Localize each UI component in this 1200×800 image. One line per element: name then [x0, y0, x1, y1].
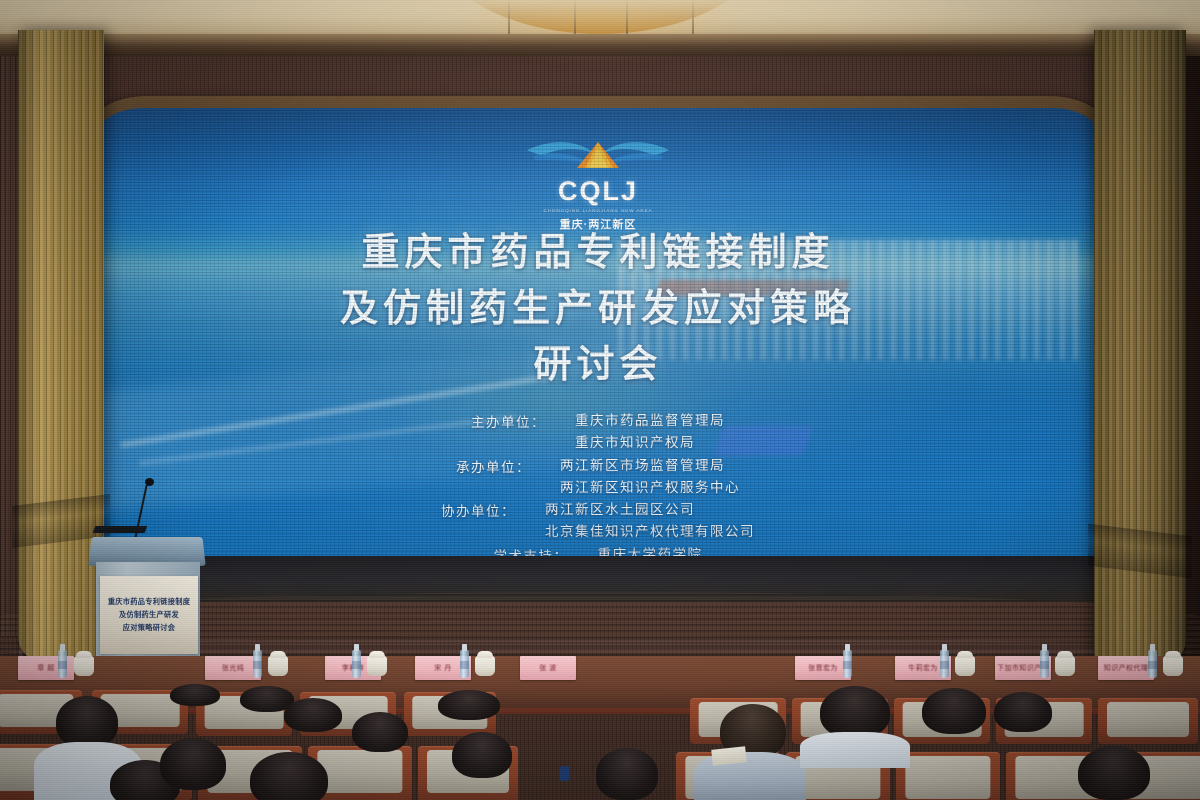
speaker-podium: 重庆市药品专利链接制度 及仿制药生产研发 应对策略研讨会 — [88, 536, 206, 670]
credit-row-host: 承办单位： 两江新区市场监督管理局 两江新区知识产权服务中心 — [456, 456, 740, 500]
water-bottle — [843, 650, 852, 678]
logo-wordmark: CQLJ — [513, 178, 683, 205]
credit-value: 重庆市药品监督管理局 — [575, 411, 725, 433]
teacup — [74, 656, 94, 676]
credit-value: 北京集佳知识产权代理有限公司 — [545, 522, 755, 544]
podium-sign-line-3: 应对策略研讨会 — [123, 623, 175, 633]
presentation-slide: CQLJ CHONGQING LIANGJIANG NEW AREA 重庆·两江… — [98, 108, 1098, 570]
attendee-head — [56, 696, 118, 748]
teacup — [955, 656, 975, 676]
slide-credits: 主办单位： 重庆市药品监督管理局 重庆市知识产权局 承办单位： 两江新区市场监督… — [98, 411, 1098, 568]
ceiling-beam — [0, 34, 1200, 56]
audience-seating — [0, 690, 1200, 800]
attendee-phone — [560, 766, 569, 781]
water-bottle — [1148, 650, 1157, 678]
placard-name: 张光纯 — [222, 663, 244, 673]
credit-label: 主办单位： — [471, 411, 575, 431]
credit-row-organizer: 主办单位： 重庆市药品监督管理局 重庆市知识产权局 — [471, 411, 725, 455]
attendee-body — [694, 752, 806, 800]
placard-name: 宋 丹 — [434, 663, 451, 673]
attendee-head — [596, 748, 658, 800]
attendee-head — [820, 686, 890, 738]
name-placard: 知识产权代理 — [1098, 656, 1154, 680]
credit-row-coorganizer: 协办单位： 两江新区水土园区公司 北京集佳知识产权代理有限公司 — [441, 500, 755, 544]
attendee-head — [170, 684, 220, 706]
placard-name: 章 超 — [37, 663, 54, 673]
water-bottle — [352, 650, 361, 678]
attendee-body — [800, 732, 910, 768]
bird-wing-icon — [523, 134, 673, 180]
audience-seat — [896, 752, 1000, 800]
teacup — [367, 656, 387, 676]
attendee-head — [438, 690, 500, 720]
credit-label: 承办单位： — [456, 456, 560, 476]
cqlj-logo: CQLJ CHONGQING LIANGJIANG NEW AREA 重庆·两江… — [513, 134, 683, 232]
water-bottle — [940, 650, 949, 678]
led-video-wall: CQLJ CHONGQING LIANGJIANG NEW AREA 重庆·两江… — [98, 108, 1098, 570]
placard-name: 牛莉宏为 — [908, 663, 938, 673]
teacup — [1055, 656, 1075, 676]
credit-value: 两江新区知识产权服务中心 — [560, 478, 740, 500]
water-bottle — [1040, 650, 1049, 678]
attendee-head — [994, 692, 1052, 732]
slide-title-line-1: 重庆市药品专利链接制度 — [98, 224, 1098, 280]
attendee-head — [284, 698, 342, 732]
attendee-head — [250, 752, 328, 800]
credit-value: 两江新区市场监督管理局 — [560, 456, 740, 478]
attendee-head — [1078, 746, 1150, 800]
attendee-head — [452, 732, 512, 778]
attendee-head — [922, 688, 986, 734]
placard-name: 张晋宏为 — [808, 663, 838, 673]
slide-title-line-2: 及仿制药生产研发应对策略 — [98, 280, 1098, 336]
stage-curtain-right — [1094, 30, 1186, 662]
water-bottle — [460, 650, 469, 678]
podium-device — [93, 526, 148, 533]
podium-sign: 重庆市药品专利链接制度 及仿制药生产研发 应对策略研讨会 — [100, 576, 198, 654]
water-bottle — [58, 650, 67, 678]
attendee-head — [352, 712, 408, 752]
audience-seat — [1098, 698, 1198, 744]
credit-value: 重庆市知识产权局 — [575, 433, 725, 455]
logo-pinyin: CHONGQING LIANGJIANG NEW AREA — [513, 208, 683, 213]
conference-hall-photo: CQLJ CHONGQING LIANGJIANG NEW AREA 重庆·两江… — [0, 0, 1200, 800]
name-placard: 张 波 — [520, 656, 576, 680]
placard-name: 知识产权代理 — [1104, 663, 1148, 673]
teacup — [268, 656, 288, 676]
credit-value: 两江新区水土园区公司 — [545, 500, 755, 522]
microphone-head-icon — [145, 478, 154, 486]
podium-sign-line-1: 重庆市药品专利链接制度 — [108, 597, 190, 607]
credit-label: 协办单位： — [441, 500, 545, 520]
attendee-head — [160, 738, 226, 790]
slide-title-line-3: 研讨会 — [98, 336, 1098, 392]
water-bottle — [253, 650, 262, 678]
teacup — [475, 656, 495, 676]
teacup — [1163, 656, 1183, 676]
placard-name: 张 波 — [539, 663, 556, 673]
slide-title: 重庆市药品专利链接制度 及仿制药生产研发应对策略 研讨会 — [98, 224, 1098, 393]
podium-sign-line-2: 及仿制药生产研发 — [119, 610, 179, 620]
